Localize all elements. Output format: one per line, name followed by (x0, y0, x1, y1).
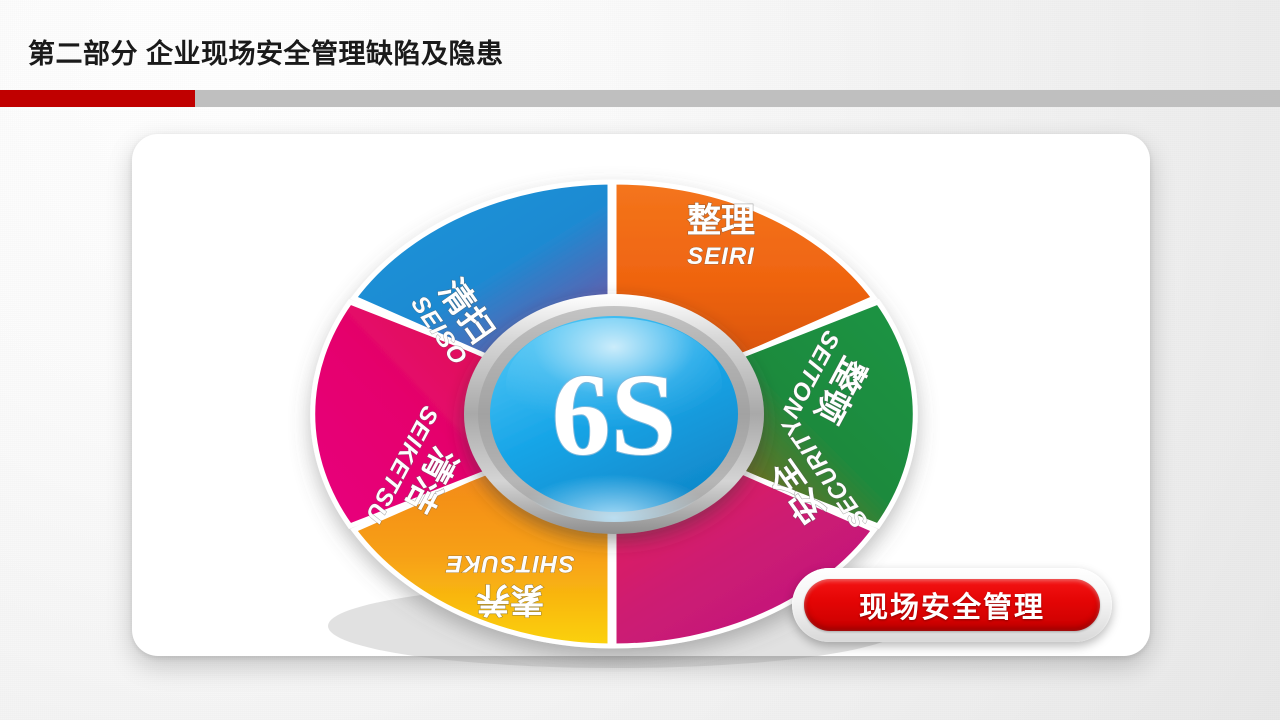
svg-text:SHITSUKE: SHITSUKE (445, 550, 574, 577)
hub-label: 6S (552, 349, 677, 480)
header-rule-accent (0, 90, 195, 107)
page-title: 第二部分 企业现场安全管理缺陷及隐患 (28, 32, 504, 71)
svg-text:整理: 整理 (687, 201, 755, 241)
callout-button[interactable]: 现场安全管理 (804, 579, 1100, 631)
segment-label-seiri: 整理 SEIRI (687, 201, 755, 270)
slide: 第二部分 企业现场安全管理缺陷及隐患 (0, 0, 1280, 720)
svg-text:素养: 素养 (476, 579, 544, 619)
callout-button-label: 现场安全管理 (859, 584, 1045, 626)
svg-text:SEIRI: SEIRI (687, 243, 755, 270)
callout-button-frame[interactable]: 现场安全管理 (792, 568, 1112, 642)
